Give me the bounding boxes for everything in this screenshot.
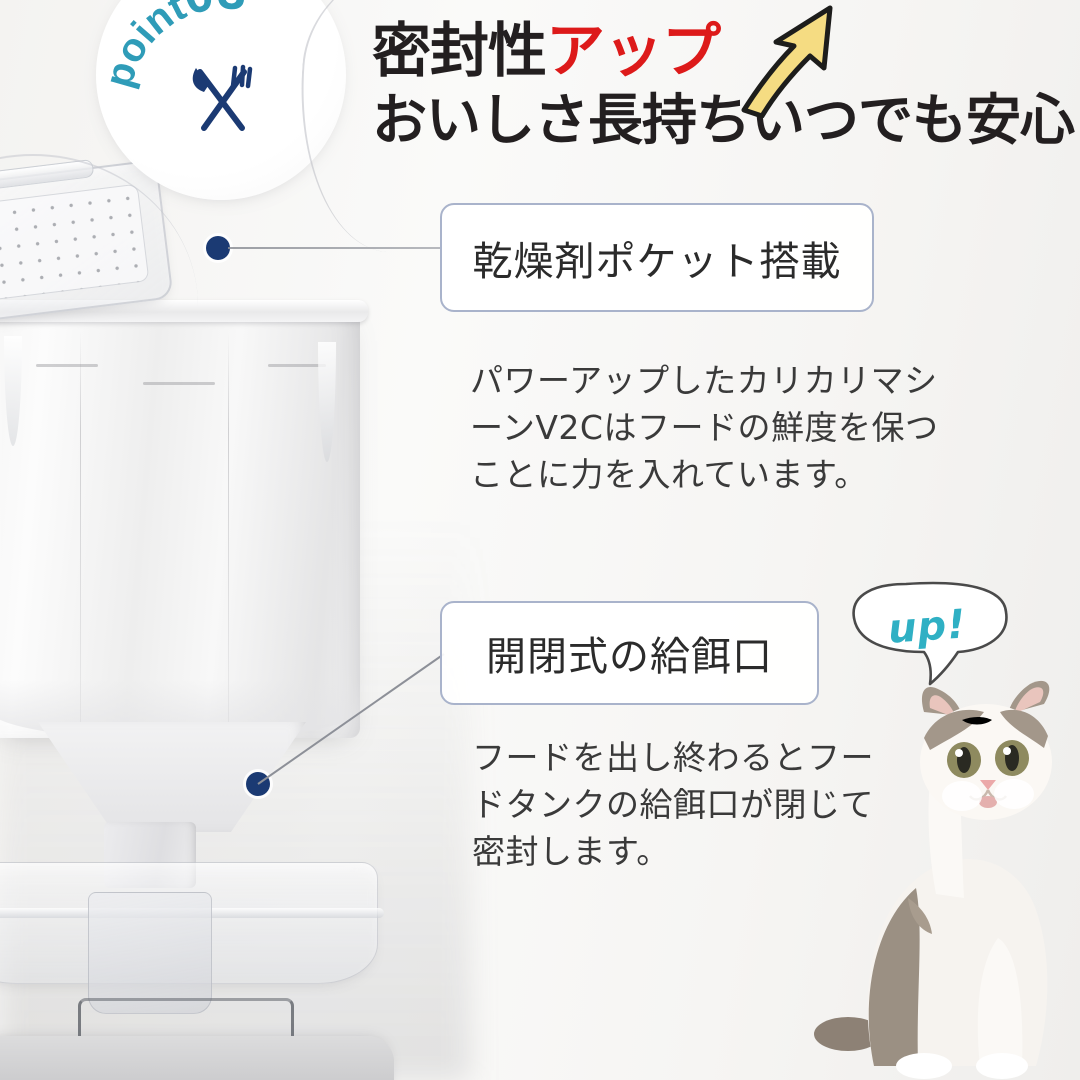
callout-box-feeding-port[interactable]: 開閉式の給餌口	[440, 601, 819, 705]
feature-1-marker-dot	[206, 236, 230, 260]
feature-1-body-text: パワーアップしたカリカリマシーンV2Cはフードの鮮度を保つことに力を入れています…	[470, 358, 970, 499]
product-photo: カリカリマシーン	[0, 150, 438, 1080]
headline-line-2: おいしさ長持ちいつでも安心	[372, 90, 1072, 152]
kitten-photo	[812, 662, 1080, 1080]
headline-prefix: 密封性	[372, 16, 546, 85]
feeder-base-top	[0, 1036, 394, 1080]
callout-label: 開閉式の給餌口	[486, 624, 773, 682]
callout-label: 乾燥剤ポケット搭載	[473, 229, 842, 287]
feature-2-leader-line	[250, 640, 450, 790]
fork-knife-icon	[186, 62, 258, 136]
headline-accent: アップ	[546, 16, 720, 85]
speech-bubble-text: up!	[886, 601, 967, 652]
headline: 密封性アップ おいしさ長持ちいつでも安心	[372, 18, 1072, 152]
feature-1-leader-line	[228, 247, 442, 249]
up-right-arrow-icon	[732, 2, 852, 118]
tank-seam	[228, 332, 229, 722]
tank-seam	[80, 332, 81, 722]
tank-notch	[143, 382, 215, 385]
ad-canvas: カリカリマシーン point03	[0, 0, 1080, 1080]
callout-box-desiccant[interactable]: 乾燥剤ポケット搭載	[440, 203, 874, 312]
headline-line-1: 密封性アップ	[372, 18, 1072, 84]
food-chute	[88, 892, 212, 1014]
badge-point-word: point	[97, 0, 193, 92]
tank-notch	[36, 364, 98, 367]
